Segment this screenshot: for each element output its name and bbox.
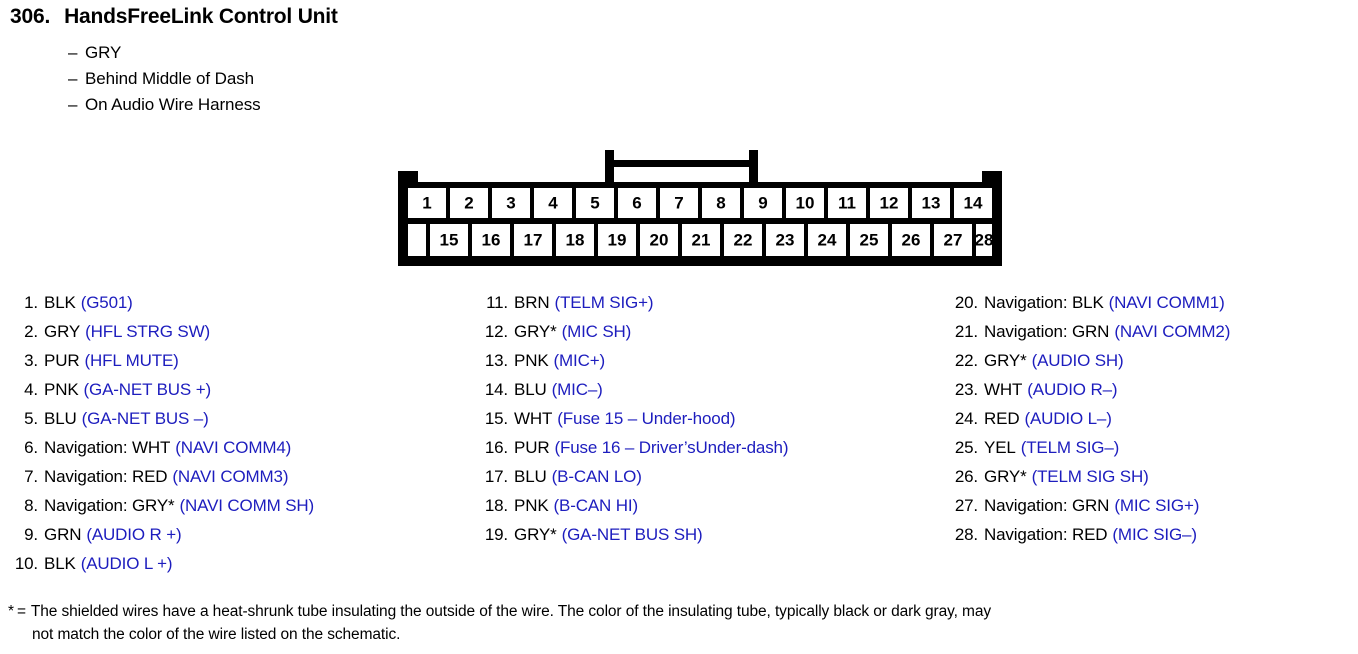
- pin-index: 26.: [940, 462, 978, 491]
- footnote-text: The shielded wires have a heat-shrunk tu…: [31, 603, 991, 620]
- footnote-line-2: not match the color of the wire listed o…: [32, 623, 400, 646]
- pin-list-item: 1.BLK(G501): [0, 288, 465, 317]
- pin-list-item: 2.GRY(HFL STRG SW): [0, 317, 465, 346]
- connector-svg: 1 2 3 4 5 6 7 8 9 10 11 12 13 1: [396, 146, 1004, 268]
- pin-list-item: 5.BLU(GA-NET BUS –): [0, 404, 465, 433]
- pin-signal-name: (B-CAN HI): [554, 496, 638, 515]
- pin-wire-color: Navigation: GRN: [984, 322, 1109, 341]
- pin-list-item: 9.GRN(AUDIO R +): [0, 520, 465, 549]
- pin-number-9: 9: [758, 193, 767, 212]
- pin-index: 5.: [0, 404, 38, 433]
- page-title-number: 306.: [10, 5, 50, 29]
- footnote-line-1: *=The shielded wires have a heat-shrunk …: [8, 600, 991, 623]
- pin-list-item: 7.Navigation: RED(NAVI COMM3): [0, 462, 465, 491]
- pin-number-15: 15: [440, 230, 459, 249]
- pin-wire-color: GRY*: [514, 322, 557, 341]
- subtitle-text: On Audio Wire Harness: [85, 95, 261, 114]
- pin-number-14: 14: [964, 193, 983, 212]
- pin-signal-name: (B-CAN LO): [552, 467, 642, 486]
- pin-number-12: 12: [880, 193, 899, 212]
- pin-number-11: 11: [838, 193, 856, 212]
- pin-wire-color: GRY*: [984, 467, 1027, 486]
- pin-list-item: 26.GRY*(TELM SIG SH): [940, 462, 1358, 491]
- pin-wire-color: BRN: [514, 293, 549, 312]
- pin-list-column-3: 20.Navigation: BLK(NAVI COMM1) 21.Naviga…: [940, 288, 1358, 549]
- pin-list-item: 21.Navigation: GRN(NAVI COMM2): [940, 317, 1358, 346]
- pin-signal-name: (Fuse 16 – Driver’sUnder-dash): [554, 438, 788, 457]
- pin-index: 18.: [470, 491, 508, 520]
- pin-number-24: 24: [818, 230, 837, 249]
- pin-signal-name: (NAVI COMM4): [175, 438, 291, 457]
- pin-wire-color: PUR: [44, 351, 79, 370]
- pin-index: 25.: [940, 433, 978, 462]
- pin-index: 19.: [470, 520, 508, 549]
- asterisk-glyph: *: [8, 603, 14, 620]
- pin-signal-name: (MIC+): [554, 351, 606, 370]
- pin-list-item: 24.RED(AUDIO L–): [940, 404, 1358, 433]
- pin-signal-name: (HFL MUTE): [84, 351, 178, 370]
- pin-index: 22.: [940, 346, 978, 375]
- pin-wire-color: BLU: [514, 467, 547, 486]
- pin-number-13: 13: [922, 193, 941, 212]
- pin-signal-name: (AUDIO SH): [1032, 351, 1124, 370]
- pin-wire-color: GRY: [44, 322, 80, 341]
- pin-number-21: 21: [692, 230, 711, 249]
- pin-wire-color: Navigation: RED: [44, 467, 167, 486]
- pin-wire-color: Navigation: GRN: [984, 496, 1109, 515]
- pin-number-26: 26: [902, 230, 921, 249]
- pin-number-4: 4: [548, 193, 558, 212]
- pin-list-item: 4.PNK(GA-NET BUS +): [0, 375, 465, 404]
- pin-signal-name: (NAVI COMM1): [1109, 293, 1225, 312]
- subtitle-line-harness: –On Audio Wire Harness: [68, 95, 261, 115]
- pin-index: 4.: [0, 375, 38, 404]
- pin-signal-name: (AUDIO R +): [86, 525, 181, 544]
- footnote-text: not match the color of the wire listed o…: [32, 626, 400, 643]
- pin-wire-color: Navigation: GRY*: [44, 496, 175, 515]
- pin-number-7: 7: [674, 193, 683, 212]
- pin-index: 2.: [0, 317, 38, 346]
- pin-signal-name: (GA-NET BUS SH): [562, 525, 703, 544]
- pin-number-5: 5: [590, 193, 599, 212]
- pin-wire-color: BLK: [44, 554, 76, 573]
- pin-signal-name: (TELM SIG SH): [1032, 467, 1149, 486]
- pin-signal-name: (Fuse 15 – Under-hood): [557, 409, 735, 428]
- pin-number-8: 8: [716, 193, 725, 212]
- dash-glyph: –: [68, 43, 85, 63]
- pin-wire-color: PNK: [514, 496, 549, 515]
- pin-number-16: 16: [482, 230, 501, 249]
- pin-signal-name: (TELM SIG+): [554, 293, 653, 312]
- pin-wire-color: BLU: [44, 409, 77, 428]
- pin-number-20: 20: [650, 230, 669, 249]
- pin-wire-color: WHT: [984, 380, 1022, 399]
- pin-signal-name: (MIC SIG–): [1112, 525, 1196, 544]
- pin-index: 7.: [0, 462, 38, 491]
- pin-wire-color: BLK: [44, 293, 76, 312]
- connector-bottom-row: 15 16 17 18 19 20 21 22 23 24 25 26 27: [408, 224, 993, 256]
- pin-wire-color: BLU: [514, 380, 547, 399]
- pin-number-10: 10: [796, 193, 815, 212]
- pin-list-item: 10.BLK(AUDIO L +): [0, 549, 465, 578]
- pin-list-item: 8.Navigation: GRY*(NAVI COMM SH): [0, 491, 465, 520]
- pin-number-3: 3: [506, 193, 515, 212]
- pin-index: 10.: [0, 549, 38, 578]
- pin-number-1: 1: [422, 193, 431, 212]
- pin-list-item: 13.PNK(MIC+): [470, 346, 940, 375]
- pin-list-item: 3.PUR(HFL MUTE): [0, 346, 465, 375]
- pin-index: 28.: [940, 520, 978, 549]
- pin-list-item: 25.YEL(TELM SIG–): [940, 433, 1358, 462]
- pin-list-column-1: 1.BLK(G501) 2.GRY(HFL STRG SW) 3.PUR(HFL…: [0, 288, 465, 578]
- pin-number-2: 2: [464, 193, 473, 212]
- pin-wire-color: PUR: [514, 438, 549, 457]
- pin-signal-name: (TELM SIG–): [1021, 438, 1119, 457]
- subtitle-text: GRY: [85, 43, 121, 62]
- subtitle-text: Behind Middle of Dash: [85, 69, 254, 88]
- pin-signal-name: (HFL STRG SW): [85, 322, 210, 341]
- pin-list-column-2: 11.BRN(TELM SIG+) 12.GRY*(MIC SH) 13.PNK…: [470, 288, 940, 549]
- pin-wire-color: RED: [984, 409, 1019, 428]
- pin-index: 14.: [470, 375, 508, 404]
- pin-number-27: 27: [944, 230, 963, 249]
- pin-number-22: 22: [734, 230, 753, 249]
- pin-signal-name: (GA-NET BUS +): [84, 380, 211, 399]
- pin-signal-name: (MIC–): [552, 380, 603, 399]
- pin-signal-name: (G501): [81, 293, 133, 312]
- pin-signal-name: (NAVI COMM3): [172, 467, 288, 486]
- pin-list-item: 28.Navigation: RED(MIC SIG–): [940, 520, 1358, 549]
- pin-list-item: 12.GRY*(MIC SH): [470, 317, 940, 346]
- pin-index: 12.: [470, 317, 508, 346]
- pin-index: 3.: [0, 346, 38, 375]
- pin-wire-color: PNK: [514, 351, 549, 370]
- pin-signal-name: (NAVI COMM2): [1114, 322, 1230, 341]
- pin-index: 20.: [940, 288, 978, 317]
- pin-number-28: 28: [975, 230, 994, 249]
- pin-number-23: 23: [776, 230, 795, 249]
- pin-signal-name: (AUDIO L +): [81, 554, 173, 573]
- dash-glyph: –: [68, 95, 85, 115]
- pin-list-item: 23.WHT(AUDIO R–): [940, 375, 1358, 404]
- pin-wire-color: WHT: [514, 409, 552, 428]
- pin-list-item: 17.BLU(B-CAN LO): [470, 462, 940, 491]
- pin-signal-name: (GA-NET BUS –): [82, 409, 209, 428]
- page-title: 306.HandsFreeLink Control Unit: [10, 5, 338, 29]
- pin-list-item: 11.BRN(TELM SIG+): [470, 288, 940, 317]
- pin-wire-color: GRY*: [514, 525, 557, 544]
- pin-wire-color: GRN: [44, 525, 81, 544]
- pin-number-17: 17: [524, 230, 543, 249]
- pin-list-item: 20.Navigation: BLK(NAVI COMM1): [940, 288, 1358, 317]
- pin-list-item: 6.Navigation: WHT(NAVI COMM4): [0, 433, 465, 462]
- pin-index: 21.: [940, 317, 978, 346]
- pin-list-item: 22.GRY*(AUDIO SH): [940, 346, 1358, 375]
- subtitle-line-connector-color: –GRY: [68, 43, 121, 63]
- pin-wire-color: PNK: [44, 380, 79, 399]
- pin-index: 1.: [0, 288, 38, 317]
- pin-index: 17.: [470, 462, 508, 491]
- pin-list-item: 19.GRY*(GA-NET BUS SH): [470, 520, 940, 549]
- pin-signal-name: (NAVI COMM SH): [180, 496, 315, 515]
- pin-list-item: 14.BLU(MIC–): [470, 375, 940, 404]
- pin-index: 6.: [0, 433, 38, 462]
- pin-index: 24.: [940, 404, 978, 433]
- pin-index: 9.: [0, 520, 38, 549]
- pin-wire-color: GRY*: [984, 351, 1027, 370]
- pin-list-item: 18.PNK(B-CAN HI): [470, 491, 940, 520]
- page-title-text: HandsFreeLink Control Unit: [64, 5, 338, 29]
- pin-index: 23.: [940, 375, 978, 404]
- pin-signal-name: (AUDIO L–): [1024, 409, 1111, 428]
- pin-signal-name: (MIC SIG+): [1114, 496, 1199, 515]
- connector-diagram: 1 2 3 4 5 6 7 8 9 10 11 12 13 1: [396, 146, 1004, 268]
- pin-number-6: 6: [632, 193, 641, 212]
- pin-number-18: 18: [566, 230, 585, 249]
- pin-number-25: 25: [860, 230, 879, 249]
- subtitle-line-location: –Behind Middle of Dash: [68, 69, 254, 89]
- pin-wire-color: YEL: [984, 438, 1016, 457]
- pin-index: 13.: [470, 346, 508, 375]
- pin-index: 27.: [940, 491, 978, 520]
- pin-wire-color: Navigation: WHT: [44, 438, 170, 457]
- pin-wire-color: Navigation: RED: [984, 525, 1107, 544]
- pin-wire-color: Navigation: BLK: [984, 293, 1104, 312]
- pin-number-19: 19: [608, 230, 627, 249]
- pin-list-item: 27.Navigation: GRN(MIC SIG+): [940, 491, 1358, 520]
- pin-signal-name: (AUDIO R–): [1027, 380, 1117, 399]
- pin-index: 15.: [470, 404, 508, 433]
- pin-index: 8.: [0, 491, 38, 520]
- pin-index: 11.: [470, 288, 508, 317]
- pin-list-item: 16.PUR(Fuse 16 – Driver’sUnder-dash): [470, 433, 940, 462]
- pin-index: 16.: [470, 433, 508, 462]
- pin-list-item: 15.WHT(Fuse 15 – Under-hood): [470, 404, 940, 433]
- dash-glyph: –: [68, 69, 85, 89]
- pin-signal-name: (MIC SH): [562, 322, 632, 341]
- equals-glyph: =: [17, 603, 26, 620]
